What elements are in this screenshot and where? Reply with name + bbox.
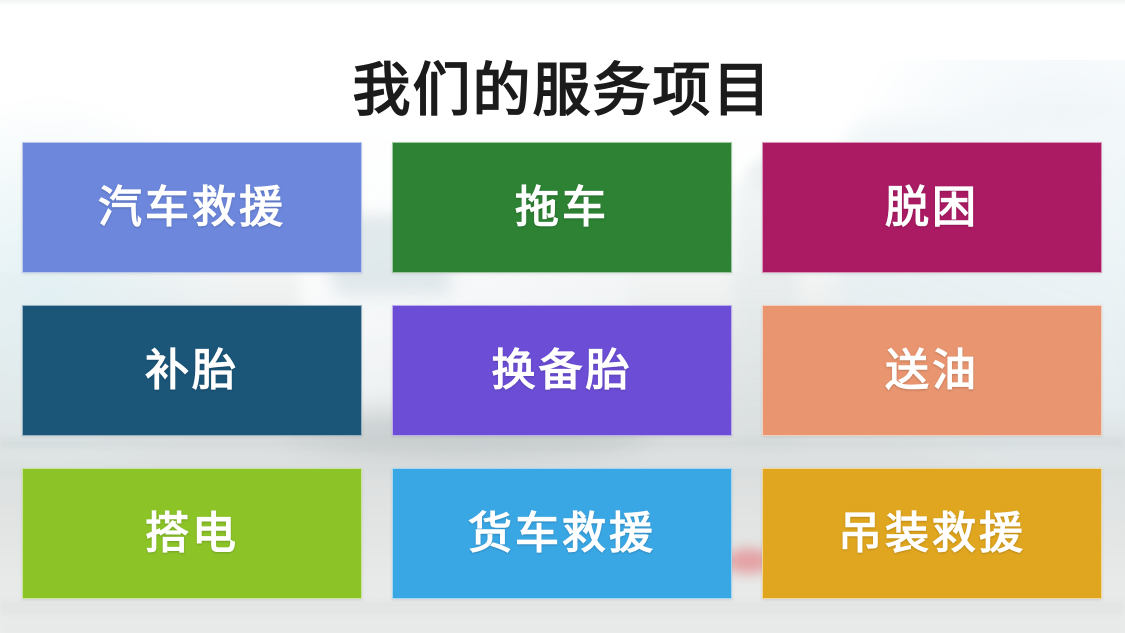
- service-tile-grid: 汽车救援拖车脱困补胎换备胎送油搭电货车救援吊装救援: [22, 142, 1102, 600]
- service-tile-label: 货车救援: [468, 512, 656, 556]
- service-tile-tire-repair[interactable]: 补胎: [22, 305, 362, 436]
- background-pavement-band: [0, 622, 1125, 633]
- service-tile-towing[interactable]: 拖车: [392, 142, 732, 273]
- service-tile-spare-tire[interactable]: 换备胎: [392, 305, 732, 436]
- background-top-strip: [0, 0, 1125, 7]
- service-tile-label: 汽车救援: [98, 186, 286, 230]
- page-title-container: 我们的服务项目: [0, 22, 1125, 158]
- service-tile-extrication[interactable]: 脱困: [762, 142, 1102, 273]
- service-tile-label: 换备胎: [492, 349, 633, 393]
- background-pavement-band: [0, 600, 1125, 616]
- service-tile-label: 吊装救援: [838, 512, 1026, 556]
- service-tile-label: 送油: [885, 349, 979, 393]
- service-tile-fuel-delivery[interactable]: 送油: [762, 305, 1102, 436]
- page-title: 我们的服务项目: [352, 61, 772, 119]
- service-tile-car-rescue[interactable]: 汽车救援: [22, 142, 362, 273]
- service-poster: 我们的服务项目 汽车救援拖车脱困补胎换备胎送油搭电货车救援吊装救援: [0, 0, 1125, 633]
- service-tile-label: 脱困: [885, 186, 979, 230]
- service-tile-truck-rescue[interactable]: 货车救援: [392, 468, 732, 599]
- service-tile-crane-rescue[interactable]: 吊装救援: [762, 468, 1102, 599]
- service-tile-label: 补胎: [145, 349, 239, 393]
- service-tile-label: 拖车: [515, 186, 609, 230]
- service-tile-label: 搭电: [145, 512, 239, 556]
- service-tile-jump-start[interactable]: 搭电: [22, 468, 362, 599]
